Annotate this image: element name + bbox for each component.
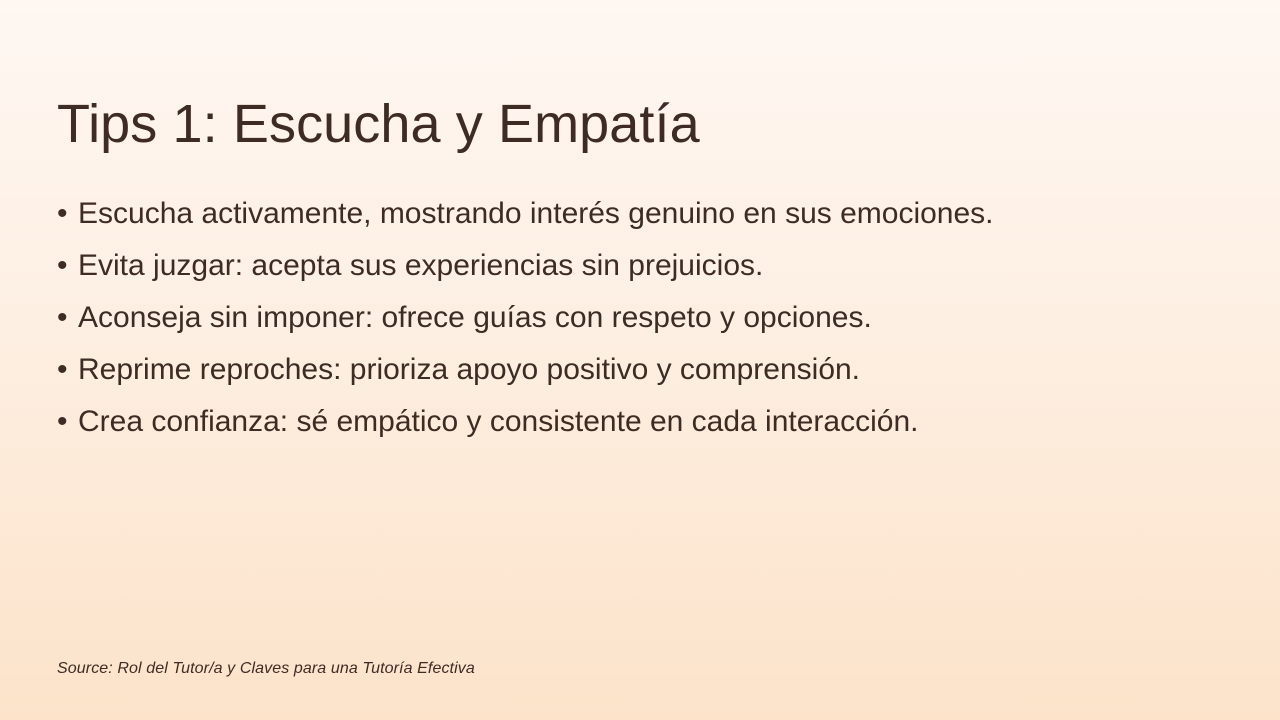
- list-item-text: Reprime reproches: prioriza apoyo positi…: [78, 344, 1207, 396]
- list-item-text: Escucha activamente, mostrando interés g…: [78, 188, 1207, 240]
- page-title: Tips 1: Escucha y Empatía: [57, 93, 1197, 157]
- list-item: • Aconseja sin imponer: ofrece guías con…: [57, 292, 1207, 344]
- list-item-text: Aconseja sin imponer: ofrece guías con r…: [78, 292, 1207, 344]
- list-item: • Evita juzgar: acepta sus experiencias …: [57, 240, 1207, 292]
- list-item: • Escucha activamente, mostrando interés…: [57, 188, 1207, 240]
- bullet-point-icon: •: [57, 344, 78, 396]
- bullet-point-icon: •: [57, 188, 78, 240]
- list-item: • Reprime reproches: prioriza apoyo posi…: [57, 344, 1207, 396]
- bullet-point-icon: •: [57, 240, 78, 292]
- list-item-text: Crea confianza: sé empático y consistent…: [78, 396, 1207, 448]
- bullet-point-icon: •: [57, 396, 78, 448]
- bullet-point-icon: •: [57, 292, 78, 344]
- bullet-list: • Escucha activamente, mostrando interés…: [57, 188, 1207, 448]
- slide: Tips 1: Escucha y Empatía • Escucha acti…: [0, 0, 1280, 720]
- source-attribution: Source: Rol del Tutor/a y Claves para un…: [57, 658, 475, 680]
- list-item: • Crea confianza: sé empático y consiste…: [57, 396, 1207, 448]
- list-item-text: Evita juzgar: acepta sus experiencias si…: [78, 240, 1207, 292]
